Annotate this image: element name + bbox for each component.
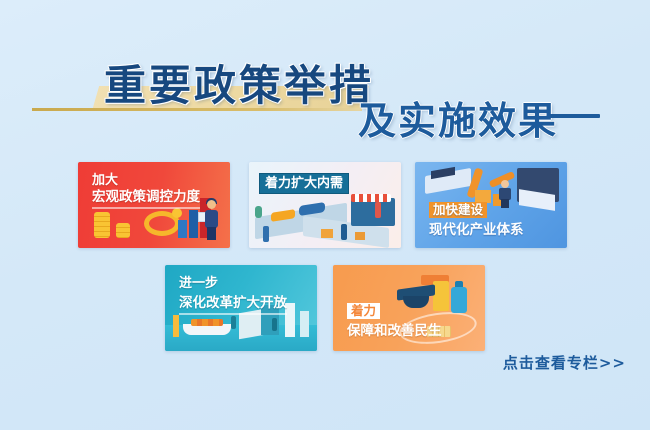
package-box-2 [355,232,365,240]
shipping-containers-icon [191,319,223,326]
worker-head [501,180,509,188]
marker-post-icon [173,315,179,337]
title-trailing-dash [548,114,600,118]
shop-building-icon [351,198,395,226]
pedestrian-3 [375,202,381,218]
card-caption-line-2: 深化改革扩大开放 [179,295,287,315]
card-deepen-reform-opening-up[interactable]: 进一步 深化改革扩大开放 [165,265,317,351]
medicine-bottle-icon [451,287,467,313]
person-head [207,200,216,209]
card-caption-line-1: 加大 [92,173,200,188]
card-caption-line-1: 加快建设 [429,202,487,218]
card-improve-peoples-livelihood[interactable]: 着力 保障和改善民生 [333,265,485,351]
pedestrian-2 [341,224,347,240]
building-tower-2 [300,311,309,337]
card-caption-line-1: 着力扩大内需 [259,173,349,194]
card-modern-industrial-system[interactable]: 加快建设 现代化产业体系 [415,162,567,248]
card-caption-line-1: 进一步 [179,276,287,292]
view-column-link[interactable]: 点击查看专栏>> [503,352,626,373]
card-caption: 进一步 深化改革扩大开放 [179,276,287,315]
title-block: 重要政策举措 及实施效果 [0,52,650,144]
tree-icon [255,206,262,218]
coin-stack-small-icon [116,223,130,238]
pedestrian-1 [263,226,269,242]
package-box-1 [321,229,333,238]
page-title-line-2: 及实施效果 [358,90,558,145]
businessperson-icon [204,200,220,240]
person-silhouette-1 [231,316,236,329]
card-caption-line-1: 着力 [347,303,380,319]
coin-icon [172,208,182,218]
person-silhouette-2 [272,318,277,331]
banner-root: 重要政策举措 及实施效果 加大 宏观政策调控力度 [0,0,650,430]
bar-chart-bar-2 [189,210,198,238]
person-body [205,210,218,228]
page-title-line-1: 重要政策举措 [104,52,374,113]
shop-awning-icon [351,194,391,202]
person-legs [207,227,216,240]
card-caption: 加快建设 现代化产业体系 [429,202,524,238]
bar-chart-bar-1 [178,220,187,238]
card-caption-line-2: 现代化产业体系 [429,222,524,238]
card-caption-line-2: 宏观政策调控力度 [92,190,200,209]
card-caption: 加大 宏观政策调控力度 [92,173,200,209]
card-expand-domestic-demand[interactable]: 着力扩大内需 [249,162,401,248]
coin-stack-icon [94,212,110,238]
card-caption: 着力扩大内需 [259,172,349,194]
card-caption-line-2: 保障和改善民生 [347,323,442,339]
card-macro-policy-control[interactable]: 加大 宏观政策调控力度 [78,162,230,248]
card-caption: 着力 保障和改善民生 [347,303,442,339]
